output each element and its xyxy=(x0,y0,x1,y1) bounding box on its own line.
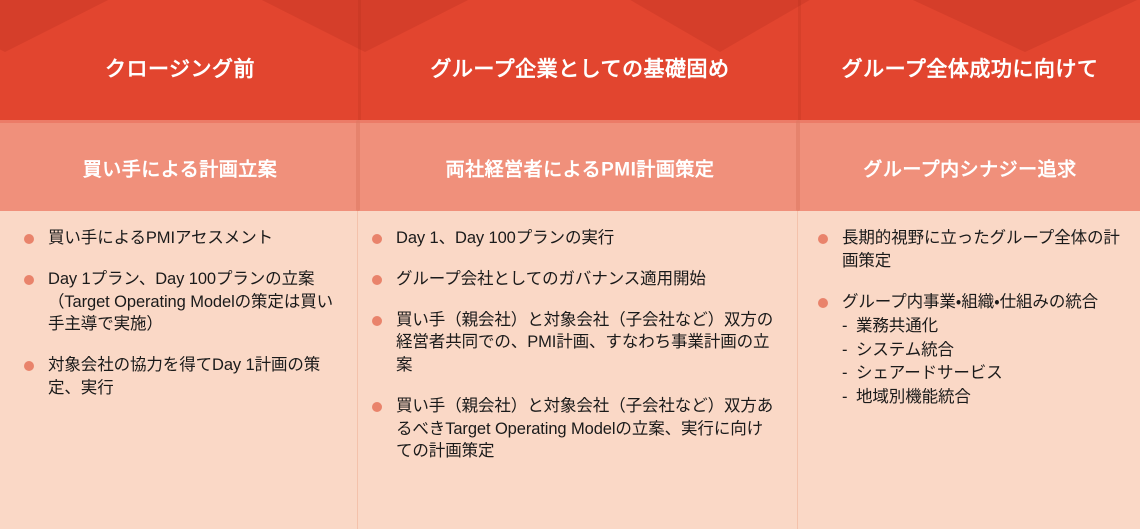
list-item: Day 1プラン、Day 100プランの立案（Target Operating … xyxy=(20,268,342,336)
bullet-list-3: 長期的視野に立ったグループ全体の計画策定 グループ内事業・組織・仕組みの統合 -… xyxy=(800,227,1140,427)
bullet-dot-icon xyxy=(24,275,34,285)
bullet-dot-icon xyxy=(372,234,382,244)
content-column-1: 買い手によるPMIアセスメント Day 1プラン、Day 100プランの立案（T… xyxy=(0,211,360,529)
bullet-dot-icon xyxy=(818,298,828,308)
phase-title-3: グループ全体成功に向けて xyxy=(800,53,1140,83)
sub-list-item-text: システム統合 xyxy=(856,341,954,359)
bullet-dot-icon xyxy=(372,275,382,285)
list-item: グループ内事業・組織・仕組みの統合 - 業務共通化 - システム統合 xyxy=(814,291,1126,409)
bullet-dot-icon xyxy=(24,234,34,244)
sub-list: - 業務共通化 - システム統合 - シェアードサービス xyxy=(842,315,1126,409)
sub-list-item-text: シェアードサービス xyxy=(856,364,1003,382)
stage-column-3: グループ内シナジー追求 xyxy=(800,120,1140,211)
bullet-list-2: Day 1、Day 100プランの実行 グループ会社としてのガバナンス適用開始 … xyxy=(360,227,800,481)
list-item: グループ会社としてのガバナンス適用開始 xyxy=(368,268,778,291)
stage-title-3: グループ内シナジー追求 xyxy=(800,155,1140,182)
bullet-dot-icon xyxy=(372,316,382,326)
list-item-text: 買い手（親会社）と対象会社（子会社など）双方の経営者共同での、PMI計画、すなわ… xyxy=(396,309,778,377)
stage-column-2: 両社経営者によるPMI計画策定 xyxy=(360,120,800,211)
list-item-text: Day 1プラン、Day 100プランの立案（Target Operating … xyxy=(48,268,342,336)
bullet-list-1: 買い手によるPMIアセスメント Day 1プラン、Day 100プランの立案（T… xyxy=(0,227,360,418)
pmi-phase-slide: クロージング前 グループ企業としての基礎固め グループ全体成功に向けて 買い手に… xyxy=(0,0,1140,529)
list-item: Day 1、Day 100プランの実行 xyxy=(368,227,778,250)
list-item: 買い手（親会社）と対象会社（子会社など）双方あるべきTarget Operati… xyxy=(368,395,778,463)
sub-list-item-text: 業務共通化 xyxy=(856,317,938,335)
dash-icon: - xyxy=(842,362,847,385)
sub-list-item: - シェアードサービス xyxy=(842,362,1126,385)
sub-list-item: - システム統合 xyxy=(842,339,1126,362)
phase-column-2: グループ企業としての基礎固め xyxy=(360,0,800,120)
bullet-dot-icon xyxy=(372,402,382,412)
list-item: 買い手（親会社）と対象会社（子会社など）双方の経営者共同での、PMI計画、すなわ… xyxy=(368,309,778,377)
bullet-dot-icon xyxy=(818,234,828,244)
phase-title-band: クロージング前 グループ企業としての基礎固め グループ全体成功に向けて xyxy=(0,0,1140,120)
list-item-text: グループ会社としてのガバナンス適用開始 xyxy=(396,268,778,291)
bullet-dot-icon xyxy=(24,361,34,371)
list-item: 長期的視野に立ったグループ全体の計画策定 xyxy=(814,227,1126,273)
dash-icon: - xyxy=(842,339,847,362)
content-column-2: Day 1、Day 100プランの実行 グループ会社としてのガバナンス適用開始 … xyxy=(360,211,800,529)
stage-title-band: 買い手による計画立案 両社経営者によるPMI計画策定 グループ内シナジー追求 xyxy=(0,120,1140,211)
stage-title-2: 両社経営者によるPMI計画策定 xyxy=(360,155,800,182)
phase-title-1: クロージング前 xyxy=(0,53,360,83)
phase-column-1: クロージング前 xyxy=(0,0,360,120)
sub-list-item-text: 地域別機能統合 xyxy=(856,388,971,406)
list-item: 買い手によるPMIアセスメント xyxy=(20,227,342,250)
list-item-text: 買い手によるPMIアセスメント xyxy=(48,227,342,250)
list-item-text: 長期的視野に立ったグループ全体の計画策定 xyxy=(842,227,1126,273)
sub-list-item: - 業務共通化 xyxy=(842,315,1126,338)
sub-list-item: - 地域別機能統合 xyxy=(842,386,1126,409)
stage-column-1: 買い手による計画立案 xyxy=(0,120,360,211)
stage-title-1: 買い手による計画立案 xyxy=(0,155,360,182)
content-column-3: 長期的視野に立ったグループ全体の計画策定 グループ内事業・組織・仕組みの統合 -… xyxy=(800,211,1140,529)
dash-icon: - xyxy=(842,386,847,409)
dash-icon: - xyxy=(842,315,847,338)
phase-title-2: グループ企業としての基礎固め xyxy=(360,53,800,83)
phase-column-3: グループ全体成功に向けて xyxy=(800,0,1140,120)
content-area: 買い手によるPMIアセスメント Day 1プラン、Day 100プランの立案（T… xyxy=(0,211,1140,529)
stage-title-columns: 買い手による計画立案 両社経営者によるPMI計画策定 グループ内シナジー追求 xyxy=(0,120,1140,211)
list-item: 対象会社の協力を得てDay 1計画の策定、実行 xyxy=(20,354,342,400)
list-item-text: 買い手（親会社）と対象会社（子会社など）双方あるべきTarget Operati… xyxy=(396,395,778,463)
content-columns: 買い手によるPMIアセスメント Day 1プラン、Day 100プランの立案（T… xyxy=(0,211,1140,529)
list-item-text: 対象会社の協力を得てDay 1計画の策定、実行 xyxy=(48,354,342,400)
list-item-text: グループ内事業・組織・仕組みの統合 xyxy=(842,291,1126,314)
phase-title-columns: クロージング前 グループ企業としての基礎固め グループ全体成功に向けて xyxy=(0,0,1140,120)
list-item-text: Day 1、Day 100プランの実行 xyxy=(396,227,778,250)
